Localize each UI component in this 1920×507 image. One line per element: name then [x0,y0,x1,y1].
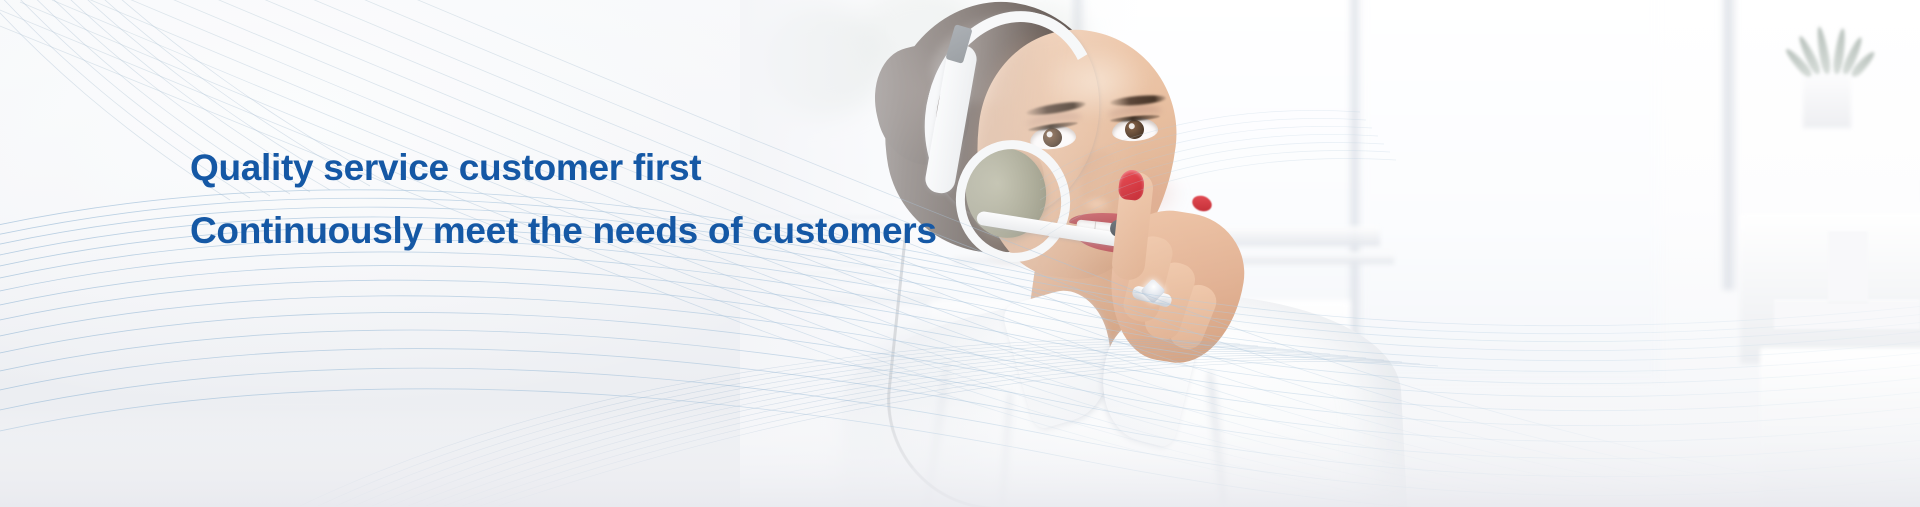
hero-banner: Quality service customer first Continuou… [0,0,1920,507]
paper-stack [1828,230,1868,302]
paper-stack [1774,300,1920,330]
headline-block: Quality service customer first Continuou… [190,148,937,251]
call-center-agent [780,0,1440,507]
plant-pot [1803,72,1851,128]
iris-right [1124,119,1144,139]
fingernail-red [1190,193,1214,214]
agent-photograph [740,0,1920,507]
headline-line-1: Quality service customer first [190,148,937,189]
headline-line-2: Continuously meet the needs of customers [190,211,937,252]
shelf-unit [1760,348,1920,507]
window-mullion [1720,0,1738,290]
